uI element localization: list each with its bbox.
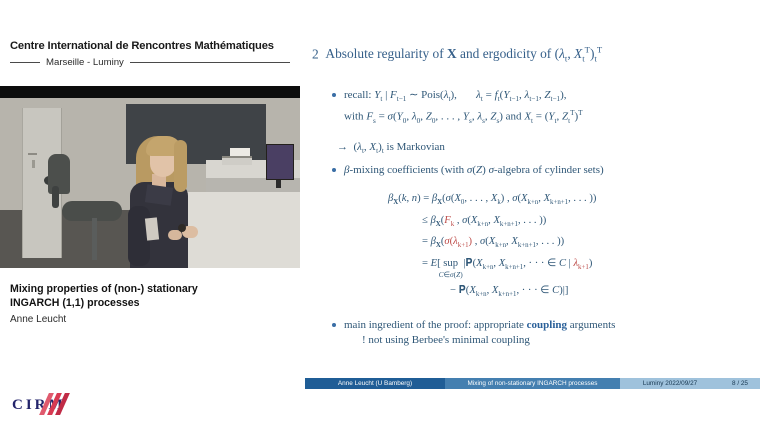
slide-section-number: 2 — [312, 46, 319, 61]
talk-title-line2: INGARCH (1,1) processes — [10, 297, 140, 309]
bullet-icon-1 — [332, 93, 336, 97]
door-hinge — [32, 160, 35, 168]
status-page-number: 8 / 25 — [720, 378, 760, 389]
coupling-highlight: coupling — [527, 319, 567, 331]
institution-header: Centre International de Rencontres Mathé… — [10, 40, 295, 68]
rule-right — [130, 62, 290, 63]
presentation-clicker — [178, 224, 186, 232]
bullet-recall-line1: recall: Yt | Ft−1 ∼ Pois(λt), λt = ft(Yt… — [344, 88, 754, 106]
status-talk-title: Mixing of non-stationary INGARCH process… — [445, 378, 620, 389]
left-panel: Centre International de Rencontres Mathé… — [0, 0, 300, 427]
bullet-recall-line2: with Fs = σ(Y0, λ0, Z0, . . . , Ys, λs, … — [344, 106, 754, 128]
slide-panel: 2 Absolute regularity of X and ergodicit… — [300, 0, 760, 427]
video-player[interactable] — [0, 86, 300, 268]
institution-subtitle: Marseille - Luminy — [46, 57, 124, 68]
laptop — [222, 156, 252, 165]
slide-status-bar: Anne Leucht (U Bamberg) Mixing of non-st… — [305, 378, 760, 389]
papers-on-desk — [230, 148, 250, 156]
equation-line-4: = E[ supC∈σ(Z) |𝐏(Xk+n, Xk+n+1, · · · ∈ … — [330, 255, 760, 277]
bullet-main-ingredient: main ingredient of the proof: appropriat… — [344, 318, 754, 332]
talk-speaker: Anne Leucht — [10, 314, 295, 325]
main-ingredient-prefix: main ingredient of the proof: appropriat… — [344, 319, 527, 331]
rule-left — [10, 62, 40, 63]
status-author: Anne Leucht (U Bamberg) — [305, 378, 445, 389]
slide-title: 2 Absolute regularity of X and ergodicit… — [312, 45, 602, 64]
chair-post — [92, 218, 97, 260]
equation-line-5: − 𝐏(Xk+n, Xk+n+1, · · · ∈ C)|] — [330, 282, 760, 304]
screenshot-root: Centre International de Rencontres Mathé… — [0, 0, 760, 427]
status-place-date: Luminy 2022/09/27 — [620, 378, 720, 389]
video-frame-image — [0, 98, 300, 268]
podium — [186, 192, 300, 268]
markovian-statement: → (λt, Xt)t is Markovian — [337, 140, 747, 158]
equation-line-1: βX(k, n) = βX(σ(X0, . . . , Xk) , σ(Xk+n… — [330, 190, 760, 212]
institution-title: Centre International de Rencontres Mathé… — [10, 40, 295, 52]
slide-top-margin — [600, 0, 760, 36]
talk-caption: Mixing properties of (non-) stationary I… — [10, 283, 295, 325]
cirm-logo: CIRM — [6, 390, 116, 422]
chair-arm — [52, 186, 59, 208]
bullet-beta-mixing: β-mixing coefficients (with σ(Z) σ-algeb… — [344, 163, 754, 177]
institution-subtitle-row: Marseille - Luminy — [10, 57, 290, 68]
equation-block: βX(k, n) = βX(σ(X0, . . . , Xk) , σ(Xk+n… — [330, 190, 760, 304]
equation-line-2: ≤ βX(Fk , σ(Xk+n, Xk+n+1, . . . )) — [330, 212, 760, 234]
talk-title-line1: Mixing properties of (non-) stationary — [10, 283, 198, 295]
speaker-notes — [145, 217, 159, 240]
main-ingredient-suffix: arguments — [567, 319, 615, 331]
beamer-nav-symbols[interactable]: ◻ ▸ ◻ ▸ ▤ ▸ ▤ ▸ ▤ ▸ ▤ ↺ ↻ ↷ — [600, 368, 760, 376]
monitor — [266, 144, 294, 180]
slide-title-text: Absolute regularity of X and ergodicity … — [322, 46, 602, 61]
monitor-stand — [276, 180, 281, 188]
equation-line-3: = βX(σ(λk+1) , σ(Xk+n, Xk+n+1, . . . )) — [330, 233, 760, 255]
slide-bottom-margin — [600, 389, 760, 427]
bullet-icon-3 — [332, 323, 336, 327]
talk-title: Mixing properties of (non-) stationary I… — [10, 283, 295, 310]
speaker-collar — [145, 184, 173, 205]
speaker-hair-side — [174, 140, 187, 192]
bullet-icon-2 — [332, 168, 336, 172]
berbee-note: ! not using Berbee's minimal coupling — [362, 333, 760, 347]
bullet-recall: recall: Yt | Ft−1 ∼ Pois(λt), λt = ft(Yt… — [344, 88, 754, 128]
door-handle — [28, 153, 37, 155]
